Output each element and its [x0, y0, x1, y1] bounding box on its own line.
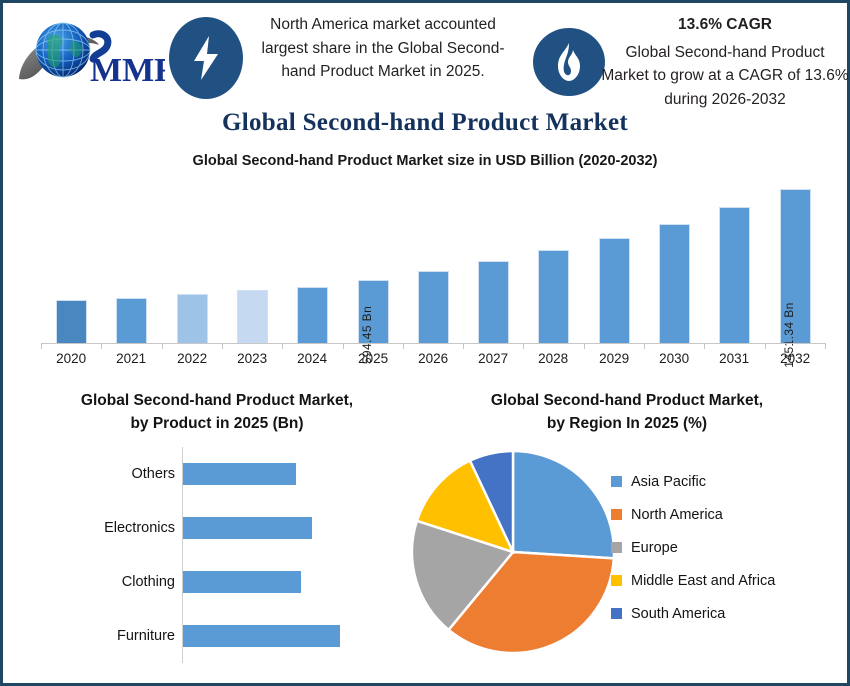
- x-axis-label-2030: 2030: [644, 351, 704, 366]
- region-chart-title: Global Second-hand Product Market, by Re…: [409, 389, 845, 436]
- legend-label: South America: [631, 606, 725, 622]
- axis-tick: [584, 343, 585, 349]
- bar-chart-title: Global Second-hand Product Market size i…: [3, 153, 847, 169]
- lightning-bolt-icon: [189, 34, 223, 82]
- bar-2024: [297, 287, 328, 343]
- cagr-note-text: Global Second-hand Product Market to gro…: [601, 44, 848, 108]
- legend-swatch-icon: [611, 509, 622, 520]
- north-america-note-text: North America market accounted largest s…: [262, 16, 505, 80]
- product-label-furniture: Furniture: [17, 628, 175, 644]
- infographic-page: MMR North America market accounted large…: [0, 0, 850, 686]
- axis-tick: [403, 343, 404, 349]
- x-axis-label-2028: 2028: [523, 351, 583, 366]
- bar-slot: 594.45 Bn: [343, 173, 403, 343]
- axis-tick: [825, 343, 826, 349]
- legend-label: North America: [631, 507, 723, 523]
- axis-tick: [765, 343, 766, 349]
- product-bar-electronics: [183, 517, 312, 539]
- product-bar-furniture: [183, 625, 340, 647]
- pie-plot-area: [409, 447, 619, 657]
- x-axis-label-2027: 2027: [463, 351, 523, 366]
- axis-tick: [101, 343, 102, 349]
- region-chart-title-line2: by Region In 2025 (%): [547, 415, 707, 432]
- product-chart-title-line1: Global Second-hand Product Market,: [81, 392, 353, 409]
- bar-2020: [56, 300, 87, 343]
- bar-slot: [584, 173, 644, 343]
- bar-slot: [463, 173, 523, 343]
- mmr-logo: MMR: [15, 15, 165, 95]
- market-by-product-chart: Global Second-hand Product Market, by Pr…: [17, 389, 417, 669]
- bar-slot: [101, 173, 161, 343]
- flame-icon: [555, 42, 583, 82]
- bar-slot: [644, 173, 704, 343]
- x-axis-label-2022: 2022: [162, 351, 222, 366]
- x-axis-label-2025: 2025: [343, 351, 403, 366]
- axis-tick: [282, 343, 283, 349]
- legend-item-north-america: North America: [611, 498, 845, 531]
- axis-tick: [343, 343, 344, 349]
- bar-slot: [403, 173, 463, 343]
- flame-badge: [533, 28, 605, 96]
- header: MMR North America market accounted large…: [3, 3, 847, 111]
- bar-chart-plot-area: 594.45 Bn1451.34 Bn: [41, 173, 825, 343]
- bar-2031: [719, 207, 750, 343]
- product-bar-others: [183, 463, 296, 485]
- product-chart-plot-area: OthersElectronicsClothingFurniture: [17, 447, 417, 663]
- bar-2028: [538, 250, 569, 343]
- legend-swatch-icon: [611, 476, 622, 487]
- product-bar-row: Others: [17, 447, 417, 501]
- axis-tick: [463, 343, 464, 349]
- bar-2022: [177, 294, 208, 343]
- axis-tick: [704, 343, 705, 349]
- x-axis-label-2024: 2024: [282, 351, 342, 366]
- north-america-note: North America market accounted largest s…: [261, 13, 505, 84]
- bar-slot: [523, 173, 583, 343]
- x-axis-label-2026: 2026: [403, 351, 463, 366]
- pie-svg: [409, 447, 619, 657]
- lightning-bolt-badge: [169, 17, 243, 99]
- bar-slot: [41, 173, 101, 343]
- bar-chart-axis-line: [41, 343, 825, 344]
- legend-swatch-icon: [611, 608, 622, 619]
- logo-text: MMR: [90, 52, 165, 89]
- bar-2025: 594.45 Bn: [358, 280, 389, 343]
- x-axis-label-2021: 2021: [101, 351, 161, 366]
- legend-item-europe: Europe: [611, 531, 845, 564]
- bar-slot: [162, 173, 222, 343]
- axis-tick: [523, 343, 524, 349]
- pie-legend: Asia PacificNorth AmericaEuropeMiddle Ea…: [611, 465, 845, 630]
- bar-slot: [222, 173, 282, 343]
- legend-label: Middle East and Africa: [631, 573, 775, 589]
- product-bar-row: Clothing: [17, 555, 417, 609]
- x-axis-label-2031: 2031: [704, 351, 764, 366]
- x-axis-label-2020: 2020: [41, 351, 101, 366]
- product-chart-title: Global Second-hand Product Market, by Pr…: [17, 389, 417, 436]
- cagr-note: 13.6% CAGR Global Second-hand Product Ma…: [601, 13, 849, 111]
- bar-2023: [237, 290, 268, 343]
- market-by-region-chart: Global Second-hand Product Market, by Re…: [409, 389, 845, 669]
- bar-2032: 1451.34 Bn: [780, 189, 811, 343]
- legend-item-south-america: South America: [611, 597, 845, 630]
- cagr-headline: 13.6% CAGR: [601, 13, 849, 37]
- bar-slot: [282, 173, 342, 343]
- bar-2021: [116, 298, 147, 343]
- product-label-clothing: Clothing: [17, 574, 175, 590]
- legend-swatch-icon: [611, 575, 622, 586]
- bar-2030: [659, 224, 690, 343]
- product-label-electronics: Electronics: [17, 520, 175, 536]
- x-axis-label-2032: 2032: [765, 351, 825, 366]
- legend-swatch-icon: [611, 542, 622, 553]
- axis-tick: [222, 343, 223, 349]
- bar-2027: [478, 261, 509, 343]
- bar-slot: [704, 173, 764, 343]
- product-chart-title-line2: by Product in 2025 (Bn): [130, 415, 303, 432]
- axis-tick: [644, 343, 645, 349]
- product-bar-row: Furniture: [17, 609, 417, 663]
- product-label-others: Others: [17, 466, 175, 482]
- market-size-bar-chart: Global Second-hand Product Market size i…: [3, 143, 847, 378]
- axis-tick: [41, 343, 42, 349]
- pie-slice-asia-pacific: [513, 451, 614, 558]
- page-title: Global Second-hand Product Market: [3, 109, 847, 137]
- legend-label: Asia Pacific: [631, 474, 706, 490]
- legend-item-asia-pacific: Asia Pacific: [611, 465, 845, 498]
- bar-2026: [418, 271, 449, 343]
- legend-item-middle-east-and-africa: Middle East and Africa: [611, 564, 845, 597]
- region-chart-title-line1: Global Second-hand Product Market,: [491, 392, 763, 409]
- x-axis-label-2023: 2023: [222, 351, 282, 366]
- product-bar-clothing: [183, 571, 301, 593]
- x-axis-label-2029: 2029: [584, 351, 644, 366]
- bar-slot: 1451.34 Bn: [765, 173, 825, 343]
- legend-label: Europe: [631, 540, 678, 556]
- bar-2029: [599, 238, 630, 343]
- product-bar-row: Electronics: [17, 501, 417, 555]
- axis-tick: [162, 343, 163, 349]
